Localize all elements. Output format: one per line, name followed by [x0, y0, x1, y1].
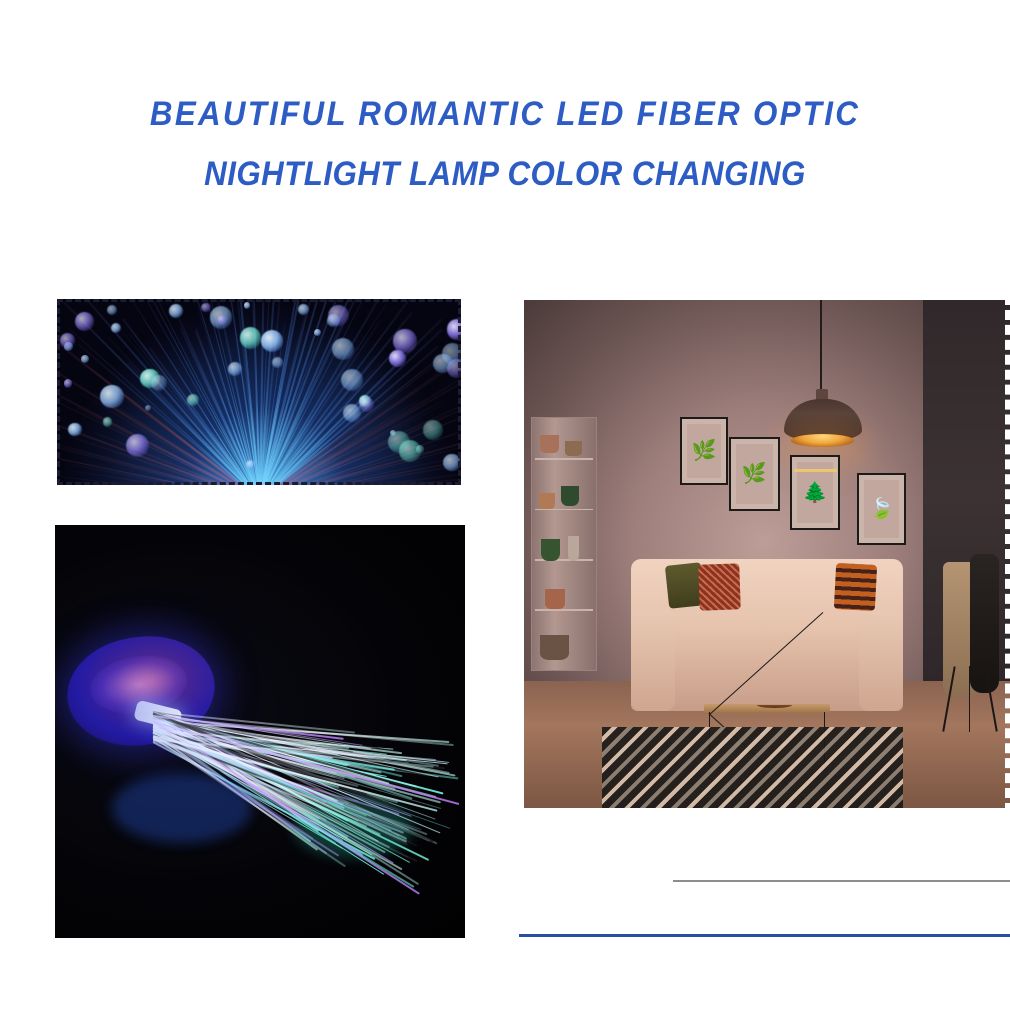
- page-title-line-2: NIGHTLIGHT LAMP COLOR CHANGING: [40, 144, 969, 204]
- leaf-branch-motif-icon: 🍃: [869, 499, 894, 519]
- sofa-arm-right: [859, 610, 903, 712]
- product-listing-page: BEAUTIFUL ROMANTIC LED FIBER OPTIC NIGHT…: [0, 0, 1010, 1010]
- diamond-pattern-rug: [602, 727, 903, 808]
- tree-motif-icon: 🌲: [803, 483, 828, 503]
- page-title: BEAUTIFUL ROMANTIC LED FIBER OPTIC NIGHT…: [0, 84, 1010, 204]
- fern-motif-icon: 🌿: [742, 464, 767, 484]
- sofa-arm-left: [631, 610, 675, 712]
- fiber-optic-macro-photo: [57, 299, 461, 485]
- framed-leaf-print-4: 🍃: [857, 473, 906, 546]
- living-room-scene-photo: 🌿 🌿 🌲 🍃: [524, 300, 1010, 808]
- fiber-tip-glow: [293, 798, 413, 858]
- lamp-glow: [112, 773, 252, 843]
- fern-motif-icon: 🌿: [692, 441, 717, 461]
- pillow-patterned-red: [698, 563, 741, 610]
- gray-divider-line: [673, 880, 1010, 882]
- blue-divider-line: [519, 934, 1010, 937]
- lamp-highlight-streak: [794, 469, 838, 473]
- framed-tree-print-3: 🌲: [790, 455, 840, 530]
- pendant-lamp-glow: [791, 434, 854, 447]
- pillow-striped-copper: [834, 563, 878, 611]
- fiber-optic-lamp-product-photo: [55, 525, 465, 938]
- room-scene: 🌿 🌿 🌲 🍃: [524, 300, 1010, 808]
- page-title-line-1: BEAUTIFUL ROMANTIC LED FIBER OPTIC: [40, 84, 969, 144]
- framed-fern-print-2: 🌿: [729, 437, 780, 511]
- coat-rack-with-coats: [937, 539, 1000, 732]
- framed-fern-print-1: 🌿: [680, 417, 728, 486]
- white-bookshelf: [531, 417, 597, 671]
